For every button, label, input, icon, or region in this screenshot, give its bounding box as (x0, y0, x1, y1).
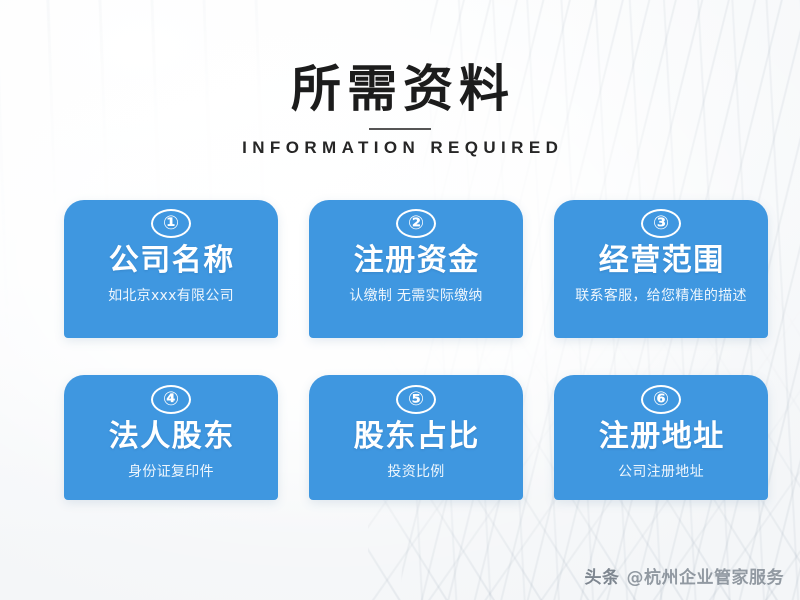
card-title: 法人股东 (107, 420, 235, 455)
card-title: 股东占比 (352, 420, 480, 455)
requirement-card-1[interactable]: ① 公司名称 如北京xxx有限公司 (64, 200, 278, 338)
card-description: 认缴制 无需实际缴纳 (349, 286, 482, 306)
page-title: 所需资料 (0, 62, 800, 116)
number-badge-icon: ③ (641, 209, 681, 238)
number-badge-icon: ⑤ (396, 385, 436, 414)
watermark-handle: @杭州企业管家服务 (627, 563, 785, 588)
number-badge-icon: ① (151, 209, 191, 238)
watermark-brand: 头条 (585, 563, 620, 588)
requirement-card-3[interactable]: ③ 经营范围 联系客服，给您精准的描述 (554, 200, 768, 338)
requirement-card-5[interactable]: ⑤ 股东占比 投资比例 (309, 375, 523, 500)
card-description: 公司注册地址 (618, 462, 704, 482)
requirement-card-4[interactable]: ④ 法人股东 身份证复印件 (64, 375, 278, 500)
requirement-card-6[interactable]: ⑥ 注册地址 公司注册地址 (554, 375, 768, 500)
requirement-card-2[interactable]: ② 注册资金 认缴制 无需实际缴纳 (309, 200, 523, 338)
card-title: 经营范围 (597, 244, 725, 279)
number-badge-icon: ④ (151, 385, 191, 414)
watermark: 头条 @杭州企业管家服务 (585, 563, 785, 588)
poster-header: 所需资料 INFORMATION REQUIRED (0, 62, 800, 158)
card-description: 身份证复印件 (128, 462, 214, 482)
number-badge-icon: ② (396, 209, 436, 238)
title-divider (369, 128, 431, 130)
card-description: 投资比例 (387, 462, 444, 482)
requirements-grid: ① 公司名称 如北京xxx有限公司 ② 注册资金 认缴制 无需实际缴纳 ③ 经营… (64, 200, 760, 500)
page-subtitle: INFORMATION REQUIRED (0, 138, 800, 158)
card-description: 如北京xxx有限公司 (108, 286, 234, 306)
poster-canvas: 所需资料 INFORMATION REQUIRED ① 公司名称 如北京xxx有… (0, 0, 800, 600)
number-badge-icon: ⑥ (641, 385, 681, 414)
card-title: 注册资金 (352, 244, 480, 279)
card-title: 公司名称 (107, 244, 235, 279)
card-description: 联系客服，给您精准的描述 (575, 286, 747, 306)
card-title: 注册地址 (597, 420, 725, 455)
